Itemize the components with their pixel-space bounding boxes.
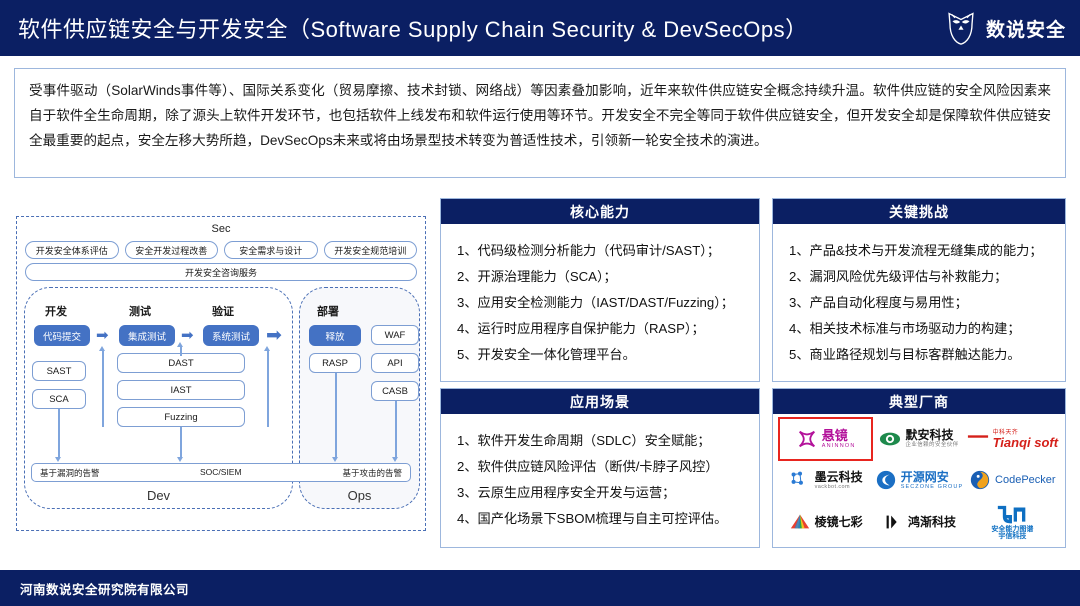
panel-core-title: 核心能力 bbox=[441, 199, 759, 224]
connector-sca-to-soc bbox=[58, 409, 60, 457]
vendor-name: 默安科技 bbox=[905, 429, 958, 441]
vendor-cell-tianqi[interactable]: 中科天齐 Tianqi soft bbox=[966, 418, 1059, 460]
alert-right-label: 基于攻击的告警 bbox=[342, 467, 402, 479]
flow-arrow-1: ➡ bbox=[96, 328, 109, 343]
connector-dast-arrow bbox=[177, 342, 183, 347]
vendor-name: 鸿渐科技 bbox=[908, 516, 956, 528]
connector-casb-arrow bbox=[392, 457, 398, 462]
flow-arrow-2: ➡ bbox=[181, 328, 194, 343]
tool-box-fuzzing: Fuzzing bbox=[117, 407, 245, 427]
list-item: 5、商业路径规划与目标客群触达能力。 bbox=[789, 342, 1051, 368]
tianqi-logo-icon bbox=[967, 428, 989, 450]
sec-pill-2: 安全开发过程改善 bbox=[125, 241, 219, 259]
sec-pill-1: 开发安全体系评估 bbox=[25, 241, 119, 259]
vendor-name: Tianqi soft bbox=[993, 436, 1058, 449]
slide-page: 软件供应链安全与开发安全（Software Supply Chain Secur… bbox=[0, 0, 1080, 606]
vendor-subtitle: vackbot.com bbox=[815, 485, 863, 491]
intro-paragraph: 受事件驱动（SolarWinds事件等）、国际关系变化（贸易摩擦、技术封锁、网络… bbox=[29, 78, 1051, 153]
intro-box: 受事件驱动（SolarWinds事件等）、国际关系变化（贸易摩擦、技术封锁、网络… bbox=[14, 68, 1066, 178]
vendor-cell-codepecker[interactable]: CodePecker bbox=[966, 460, 1059, 502]
panel-application-scenarios: 应用场景 1、软件开发生命周期（SDLC）安全赋能； 2、软件供应链风险评估（断… bbox=[440, 388, 760, 548]
tool-box-casb: CASB bbox=[371, 381, 419, 401]
vendor-cell-seczone[interactable]: 开源网安 SECZONE GROUP bbox=[872, 460, 965, 502]
tool-box-rasp: RASP bbox=[309, 353, 361, 373]
list-item: 2、开源治理能力（SCA）； bbox=[457, 264, 745, 290]
moan-logo-icon bbox=[879, 428, 901, 450]
connector-to-system-test bbox=[267, 351, 269, 427]
brand-logo: 数说安全 bbox=[944, 10, 1066, 46]
list-item: 4、运行时应用程序自保护能力（RASP）； bbox=[457, 316, 745, 342]
flow-box-system-test: 系统测试 bbox=[203, 325, 259, 346]
sec-services-row: 开发安全体系评估 安全开发过程改善 安全需求与设计 开发安全规范培训 bbox=[25, 241, 417, 259]
connector-to-system-test-arrow bbox=[264, 346, 270, 351]
moyun-logo-icon bbox=[789, 469, 811, 491]
owl-icon bbox=[944, 10, 978, 46]
vendor-cell-moyun[interactable]: 墨云科技 vackbot.com bbox=[779, 460, 872, 502]
vendor-cell-xuanjing[interactable]: 悬镜 ANINNON bbox=[779, 418, 872, 460]
flow-arrow-3: ➡ bbox=[266, 326, 282, 345]
vendor-name: 棱镜七彩 bbox=[815, 516, 863, 528]
connector-sca-arrow bbox=[55, 457, 61, 462]
connector-fuzzing-to-soc bbox=[180, 427, 182, 457]
hongjian-logo-icon bbox=[882, 511, 904, 533]
list-item: 3、云原生应用程序安全开发与运营； bbox=[457, 480, 745, 506]
ops-zone-label: Ops bbox=[300, 488, 419, 503]
panel-challenges-list: 1、产品&技术与开发流程无缝集成的能力； 2、漏洞风险优先级评估与补救能力； 3… bbox=[773, 224, 1065, 368]
connector-dast-to-integration bbox=[180, 346, 182, 356]
vendor-name: 墨云科技 bbox=[815, 471, 863, 483]
vendor-cell-hongjian[interactable]: 鸿渐科技 bbox=[872, 501, 965, 543]
vendor-cell-moan[interactable]: 默安科技 企业信赖的安全伙伴 bbox=[872, 418, 965, 460]
connector-to-integration bbox=[102, 351, 104, 427]
footer-bar: 河南数说安全研究院有限公司 bbox=[0, 570, 1080, 606]
vendor-cell-ua[interactable]: 安全能力图谱 宇信科技 bbox=[966, 501, 1059, 543]
connector-rasp-arrow bbox=[332, 457, 338, 462]
connector-casb-to-soc bbox=[395, 401, 397, 457]
ua-logo-icon bbox=[995, 505, 1029, 525]
lengjing-logo-icon bbox=[789, 511, 811, 533]
list-item: 1、产品&技术与开发流程无缝集成的能力； bbox=[789, 238, 1051, 264]
list-item: 4、国产化场景下SBOM梳理与自主可控评估。 bbox=[457, 506, 745, 532]
panel-scenarios-title: 应用场景 bbox=[441, 389, 759, 414]
list-item: 1、软件开发生命周期（SDLC）安全赋能； bbox=[457, 428, 745, 454]
soc-siem-label: SOC/SIEM bbox=[200, 467, 242, 477]
devsecops-diagram: Sec 开发安全体系评估 安全开发过程改善 安全需求与设计 开发安全规范培训 开… bbox=[16, 216, 426, 531]
vendor-subtitle: SECZONE GROUP bbox=[901, 485, 964, 491]
panel-challenges-title: 关键挑战 bbox=[773, 199, 1065, 224]
list-item: 1、代码级检测分析能力（代码审计/SAST）； bbox=[457, 238, 745, 264]
vendor-name: 开源网安 bbox=[901, 471, 964, 483]
sec-pill-4: 开发安全规范培训 bbox=[324, 241, 418, 259]
list-item: 2、漏洞风险优先级评估与补救能力； bbox=[789, 264, 1051, 290]
tool-box-waf: WAF bbox=[371, 325, 419, 345]
seczone-logo-icon bbox=[875, 469, 897, 491]
flow-box-release: 释放 bbox=[309, 325, 361, 346]
tool-box-api: API bbox=[371, 353, 419, 373]
list-item: 5、开发安全一体化管理平台。 bbox=[457, 342, 745, 368]
panel-scenarios-list: 1、软件开发生命周期（SDLC）安全赋能； 2、软件供应链风险评估（断供/卡脖子… bbox=[441, 414, 759, 532]
panel-typical-vendors: 典型厂商 悬镜 ANINNON bbox=[772, 388, 1066, 548]
stage-label-test: 测试 bbox=[129, 303, 151, 319]
panel-key-challenges: 关键挑战 1、产品&技术与开发流程无缝集成的能力； 2、漏洞风险优先级评估与补救… bbox=[772, 198, 1066, 382]
dev-zone-label: Dev bbox=[25, 488, 292, 503]
sec-pill-3: 安全需求与设计 bbox=[224, 241, 318, 259]
connector-fuzzing-arrow bbox=[177, 457, 183, 462]
flow-box-commit: 代码提交 bbox=[34, 325, 90, 346]
codepecker-logo-icon bbox=[969, 469, 991, 491]
page-title: 软件供应链安全与开发安全（Software Supply Chain Secur… bbox=[18, 12, 808, 44]
vendor-name: 安全能力图谱 bbox=[991, 526, 1033, 533]
xuanjing-logo-icon bbox=[796, 428, 818, 450]
panel-core-capability: 核心能力 1、代码级检测分析能力（代码审计/SAST）； 2、开源治理能力（SC… bbox=[440, 198, 760, 382]
vendor-cell-lengjing[interactable]: 棱镜七彩 bbox=[779, 501, 872, 543]
vendor-name: 悬镜 bbox=[822, 429, 856, 442]
flow-box-integration-test: 集成测试 bbox=[119, 325, 175, 346]
stage-label-deploy: 部署 bbox=[317, 303, 339, 319]
soc-siem-bar: 基于漏洞的告警 SOC/SIEM 基于攻击的告警 bbox=[31, 463, 411, 482]
vendor-logo-grid: 悬镜 ANINNON 默安科技 企业信赖的安全伙伴 bbox=[773, 414, 1065, 547]
stage-label-dev: 开发 bbox=[45, 303, 67, 319]
vendor-subtitle: ANINNON bbox=[822, 444, 856, 450]
stage-label-verify: 验证 bbox=[212, 303, 234, 319]
brand-name: 数说安全 bbox=[986, 15, 1066, 42]
alert-left-label: 基于漏洞的告警 bbox=[40, 467, 100, 479]
vendor-subtitle: 宇信科技 bbox=[998, 533, 1026, 540]
connector-to-integration-arrow bbox=[99, 346, 105, 351]
list-item: 3、应用安全检测能力（IAST/DAST/Fuzzing）； bbox=[457, 290, 745, 316]
list-item: 4、相关技术标准与市场驱动力的构建； bbox=[789, 316, 1051, 342]
list-item: 2、软件供应链风险评估（断供/卡脖子风控） bbox=[457, 454, 745, 480]
connector-rasp-to-soc bbox=[335, 373, 337, 457]
tool-box-sast: SAST bbox=[32, 361, 86, 381]
sec-consulting-bar: 开发安全咨询服务 bbox=[25, 263, 417, 281]
tool-box-iast: IAST bbox=[117, 380, 245, 400]
list-item: 3、产品自动化程度与易用性； bbox=[789, 290, 1051, 316]
title-bar: 软件供应链安全与开发安全（Software Supply Chain Secur… bbox=[0, 0, 1080, 56]
diagram-sec-label: Sec bbox=[17, 223, 425, 235]
footer-company: 河南数说安全研究院有限公司 bbox=[20, 579, 189, 598]
tool-box-sca: SCA bbox=[32, 389, 86, 409]
panel-core-list: 1、代码级检测分析能力（代码审计/SAST）； 2、开源治理能力（SCA）； 3… bbox=[441, 224, 759, 368]
vendor-name: CodePecker bbox=[995, 475, 1056, 486]
vendor-subtitle: 企业信赖的安全伙伴 bbox=[905, 443, 958, 449]
tool-box-dast: DAST bbox=[117, 353, 245, 373]
panel-vendors-title: 典型厂商 bbox=[773, 389, 1065, 414]
